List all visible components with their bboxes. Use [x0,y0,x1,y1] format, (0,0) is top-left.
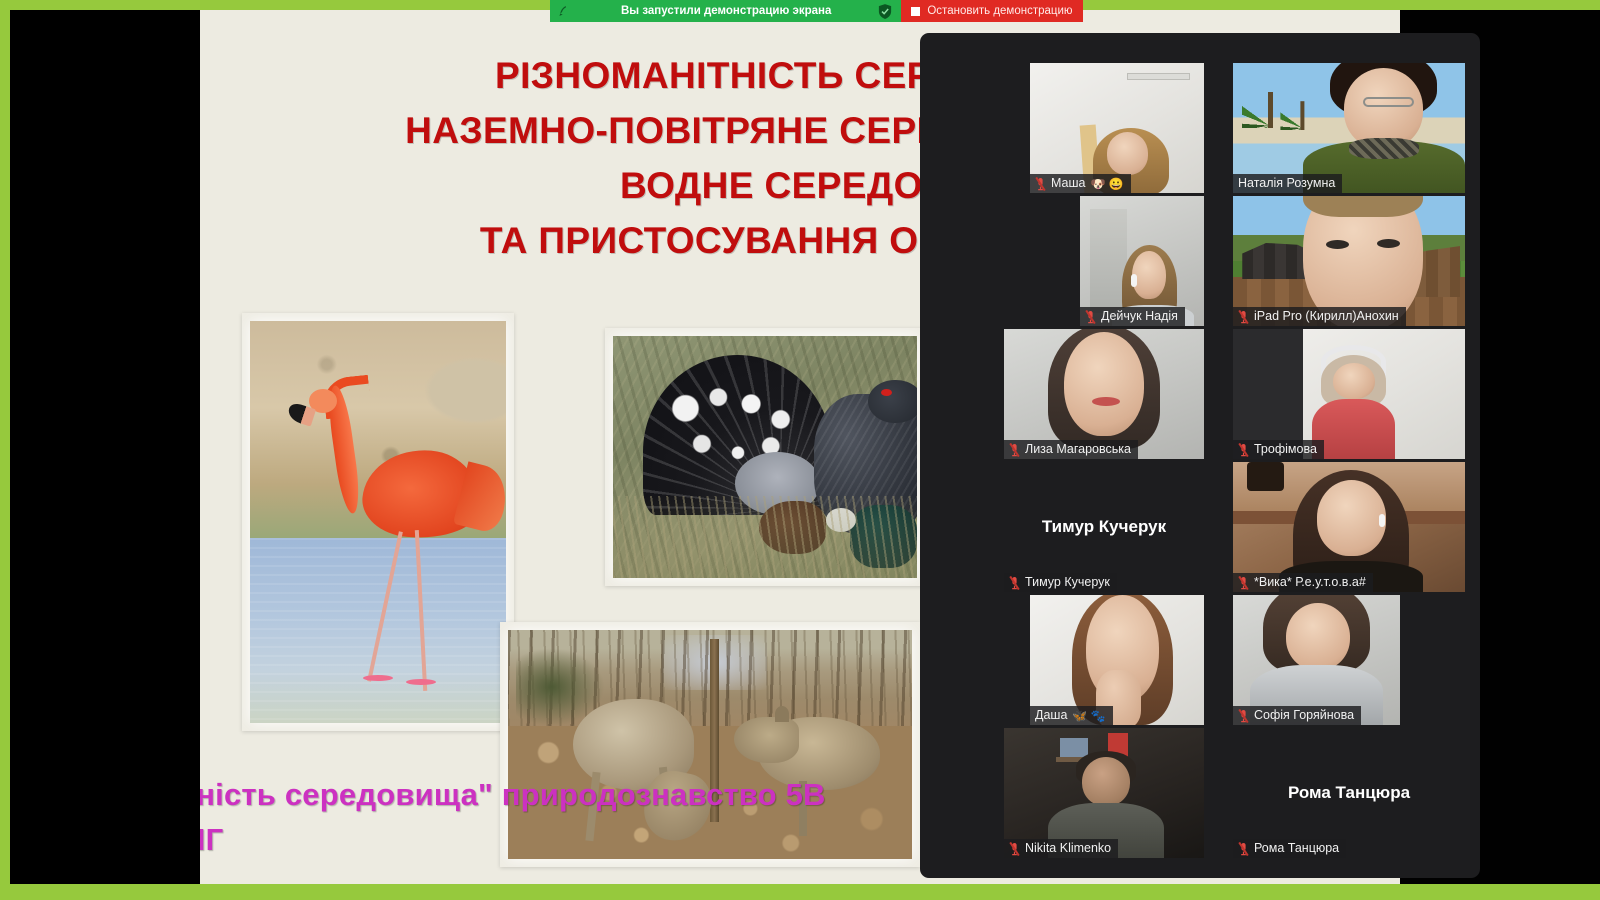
share-arrow-icon [557,4,570,18]
letterbox-left [10,10,200,884]
participant-nameplate: Тимур Кучерук [1004,573,1117,592]
participant-tile[interactable]: Даша 🦋 🐾 [1030,595,1204,725]
participant-nameplate: iPad Pro (Кирилл)Анохин [1233,307,1406,326]
mic-muted-icon [1238,709,1249,723]
participant-nameplate: Nikita Klimenko [1004,839,1118,858]
participant-tile[interactable]: Nikita Klimenko [1004,728,1204,858]
participant-nameplate: Маша 🐶 😀 [1030,174,1131,193]
participant-emoji: 🦋 🐾 [1072,710,1105,722]
participant-tile[interactable]: iPad Pro (Кирилл)Анохин [1233,196,1465,326]
grouse-photo [605,328,925,586]
sharing-status-label: Вы запустили демонстрацию экрана [579,5,869,17]
participant-nameplate: Наталія Розумна [1233,174,1342,193]
participant-tile[interactable]: Наталія Розумна [1233,63,1465,193]
participant-tile[interactable]: Маша 🐶 😀 [1030,63,1204,193]
participant-nameplate: Даша 🦋 🐾 [1030,706,1113,725]
participant-tile[interactable]: Рома Танцюра Рома Танцюра [1233,728,1465,858]
slideshow-frame-bottom [0,884,1600,900]
sharing-status: Вы запустили демонстрацию экрана [550,0,901,22]
mic-muted-icon [1009,576,1020,590]
participant-name: Даша [1035,709,1067,722]
participant-name: iPad Pro (Кирилл)Анохин [1254,310,1399,323]
participant-name: Рома Танцюра [1254,842,1339,855]
participant-name: Тимур Кучерук [1025,576,1110,589]
mic-muted-icon [1238,443,1249,457]
participant-nameplate: Рома Танцюра [1233,839,1346,858]
participant-tile[interactable]: Дейчук Надія [1080,196,1204,326]
stop-square-icon [911,7,920,16]
mic-muted-icon [1035,177,1046,191]
stop-sharing-button[interactable]: Остановить демонстрацию [901,0,1082,22]
mic-muted-icon [1238,576,1249,590]
participant-tile[interactable]: Тимур Кучерук Тимур Кучерук [1004,462,1204,592]
flamingo-photo [242,313,514,731]
participant-tile[interactable]: *Вика* Р.е.у.т.о.в.а# [1233,462,1465,592]
screen-share-view: РІЗНОМАНІТНІСТЬ СЕРЕДОВИЩ НАЗЕМНО-ПОВІТР… [0,0,1600,900]
participant-emoji: 🐶 😀 [1091,178,1124,190]
participant-name: Дейчук Надія [1101,310,1178,323]
participant-name: Трофімова [1254,443,1317,456]
mic-muted-icon [1009,842,1020,856]
participant-tile[interactable]: Трофімова [1233,329,1465,459]
participant-nameplate: Лиза Магаровська [1004,440,1138,459]
participants-grid: Маша 🐶 😀 Наталія Розумна [920,33,1480,878]
shield-icon [878,4,892,19]
participant-name: Наталія Розумна [1238,177,1335,190]
participant-nameplate: *Вика* Р.е.у.т.о.в.а# [1233,573,1373,592]
mic-muted-icon [1238,842,1249,856]
participant-name: Nikita Klimenko [1025,842,1111,855]
mic-muted-icon [1085,310,1096,324]
participant-avatar-name: Рома Танцюра [1233,783,1465,803]
participant-tile[interactable]: Софія Горяйнова [1233,595,1400,725]
participant-name: Лиза Магаровська [1025,443,1131,456]
screen-share-toolbar: Вы запустили демонстрацию экрана Останов… [550,0,1083,22]
slideshow-frame-left [0,0,10,900]
mic-muted-icon [1009,443,1020,457]
mic-muted-icon [1238,310,1249,324]
stop-sharing-label: Остановить демонстрацию [927,5,1072,17]
participant-name: *Вика* Р.е.у.т.о.в.а# [1254,576,1366,589]
participant-name: Софія Горяйнова [1254,709,1354,722]
participant-avatar-name: Тимур Кучерук [1004,517,1204,537]
participant-tile[interactable]: Лиза Магаровська [1004,329,1204,459]
participant-nameplate: Дейчук Надія [1080,307,1185,326]
participant-nameplate: Софія Горяйнова [1233,706,1361,725]
participant-nameplate: Трофімова [1233,440,1324,459]
participant-name: Маша [1051,177,1086,190]
participants-panel[interactable]: Маша 🐶 😀 Наталія Розумна [920,33,1480,878]
